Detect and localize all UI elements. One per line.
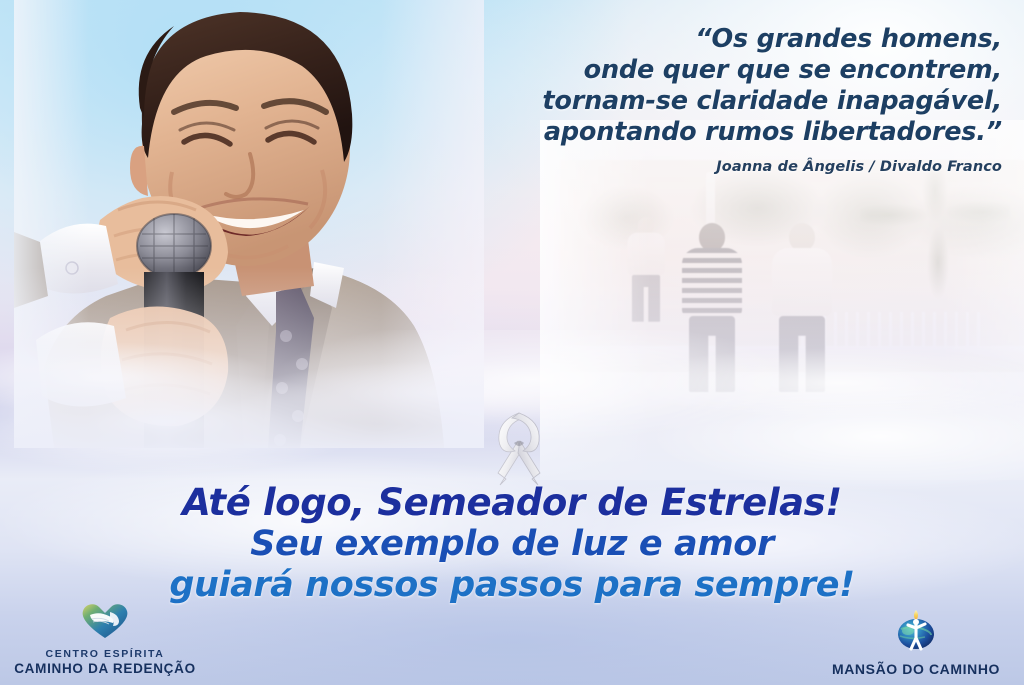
headline-line-1: Até logo, Semeador de Estrelas! xyxy=(0,482,1024,524)
logo-mansao-do-caminho[interactable]: MANSÃO DO CAMINHO xyxy=(816,609,1016,677)
quote-line-3: tornam-se claridade inapagável, xyxy=(302,86,1002,117)
headline-block: Até logo, Semeador de Estrelas! Seu exem… xyxy=(0,482,1024,606)
quote-block: “Os grandes homens, onde quer que se enc… xyxy=(302,24,1002,175)
ghost-person-white-shirt xyxy=(772,223,832,392)
logo-left-line-1: CENTRO ESPÍRITA xyxy=(10,648,200,661)
logo-left-line-2: CAMINHO DA REDENÇÃO xyxy=(10,661,200,677)
quote-attribution: Joanna de Ângelis / Divaldo Franco xyxy=(302,159,1002,175)
quote-line-4: apontando rumos libertadores.” xyxy=(302,117,1002,148)
poster-canvas: “Os grandes homens, onde quer que se enc… xyxy=(0,0,1024,685)
quote-line-2: onde quer que se encontrem, xyxy=(302,55,1002,86)
logo-right-line-2: MANSÃO DO CAMINHO xyxy=(816,661,1016,677)
background-ghost-photo xyxy=(560,160,1024,450)
quote-line-1: “Os grandes homens, xyxy=(302,24,1002,55)
globe-figure-flame-icon xyxy=(816,609,1016,658)
heart-hands-icon xyxy=(10,600,200,645)
ghost-palm-tree xyxy=(860,170,1010,320)
ghost-person-striped-shirt xyxy=(682,223,742,392)
headline-line-2: Seu exemplo de luz e amor xyxy=(0,524,1024,565)
mourning-ribbon-icon xyxy=(484,407,554,487)
logo-centro-espirita[interactable]: CENTRO ESPÍRITA CAMINHO DA REDENÇÃO xyxy=(10,600,200,677)
ghost-person-far xyxy=(627,217,664,322)
